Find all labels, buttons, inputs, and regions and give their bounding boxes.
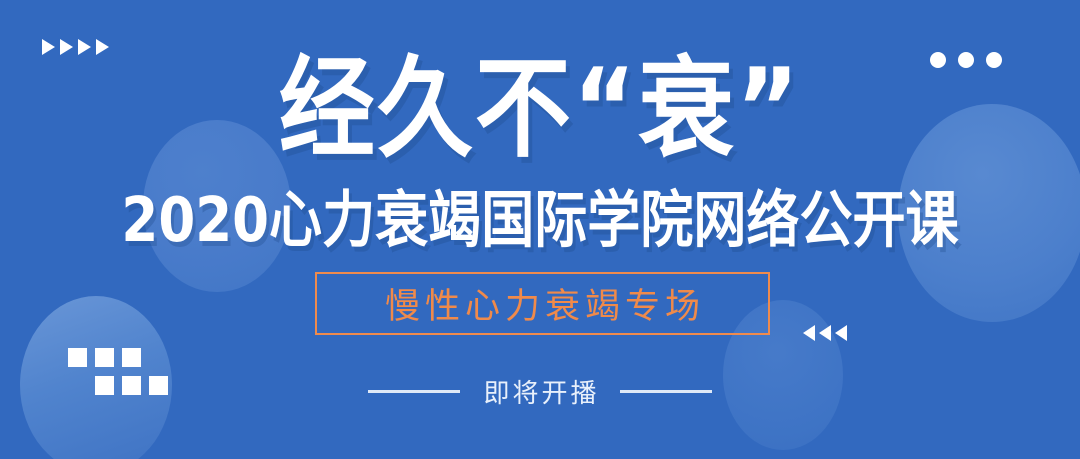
session-badge-label: 慢性心力衰竭专场	[380, 278, 705, 329]
divider-line-left	[368, 390, 460, 393]
triangle-left-icon	[835, 325, 847, 341]
arrow-cluster-left	[803, 325, 847, 341]
square-icon	[95, 348, 114, 367]
square-icon	[122, 348, 141, 367]
coming-soon-row: 即将开播	[0, 373, 1080, 410]
triangle-left-icon	[819, 325, 831, 341]
divider-line-right	[620, 390, 712, 393]
subtitle-text: 2020心力衰竭国际学院网络公开课	[0, 188, 1080, 255]
coming-soon-label: 即将开播	[480, 373, 599, 410]
promo-banner: 经久不“衰” 2020心力衰竭国际学院网络公开课 慢性心力衰竭专场 即将开播	[0, 0, 1080, 459]
triangle-left-icon	[803, 325, 815, 341]
square-icon	[68, 348, 87, 367]
session-badge: 慢性心力衰竭专场	[315, 272, 770, 335]
headline-title: 经久不“衰”	[0, 52, 1080, 167]
